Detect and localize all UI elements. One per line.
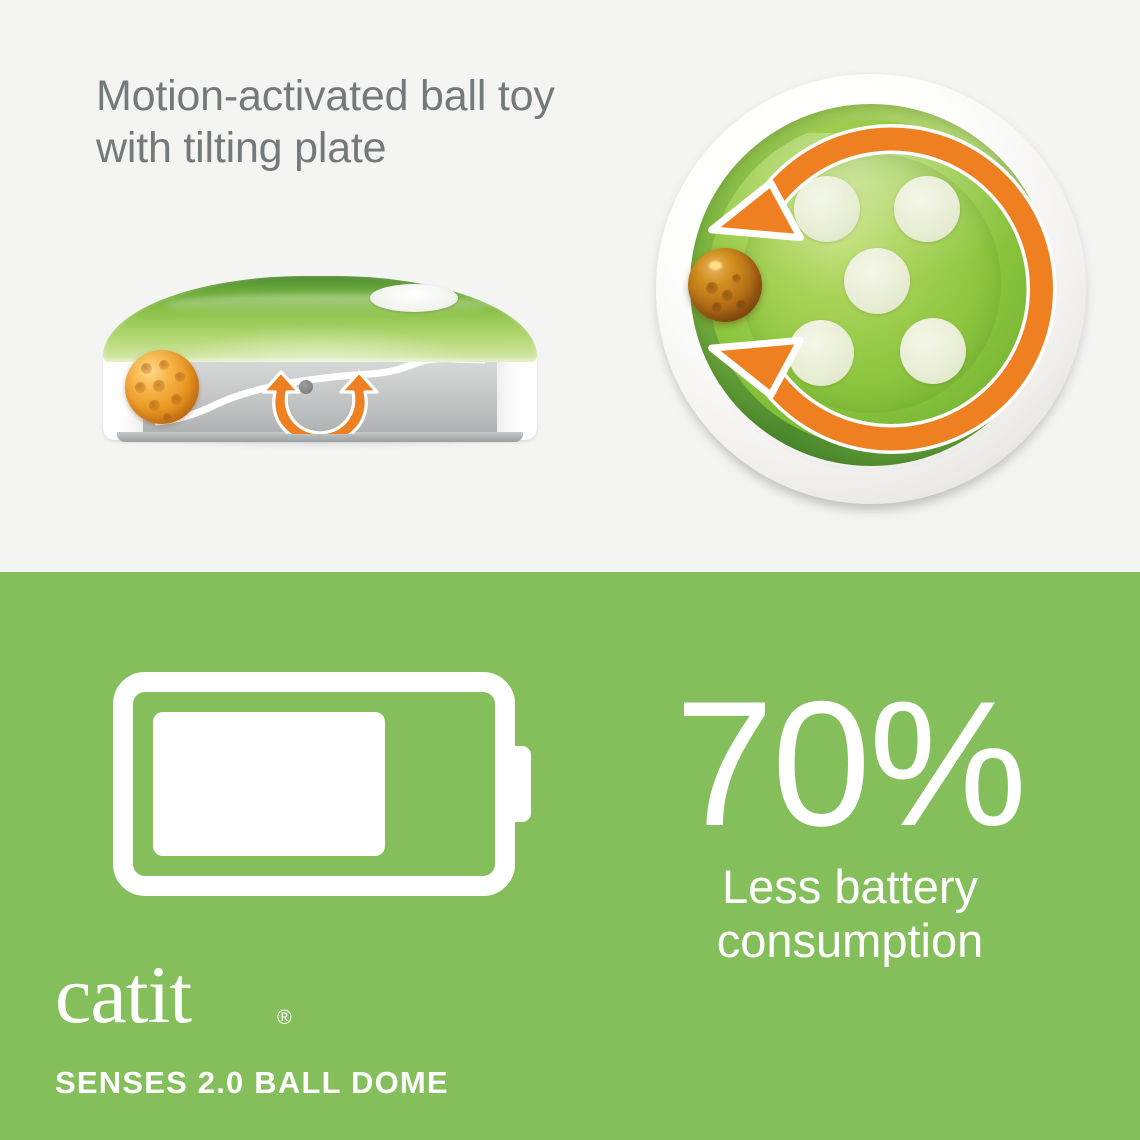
side-view-product-photo [95, 262, 545, 462]
battery-terminal [505, 746, 531, 822]
side-view-dome [103, 276, 537, 362]
top-view-product-photo [638, 58, 1104, 524]
battery-fill-level [153, 712, 385, 856]
headline-line-1: Motion-activated ball toy [96, 72, 555, 120]
registered-trademark-symbol: ® [277, 1007, 292, 1029]
product-line-name: SENSES 2.0 BALL DOME [55, 1065, 475, 1101]
brand-block: catit ® SENSES 2.0 BALL DOME [55, 960, 475, 1101]
headline-line-2: with tilting plate [96, 124, 386, 172]
catit-logo: catit ® [55, 960, 325, 1038]
tilt-motion-arrow-icon [255, 370, 385, 434]
stat-caption-line-1: Less battery [722, 860, 978, 913]
page-title: Motion-activated ball toy with tilting p… [96, 70, 656, 175]
rotation-arrow-icon [660, 78, 1082, 500]
stat-caption-line-2: consumption [717, 914, 984, 967]
top-panel: Motion-activated ball toy with tilting p… [0, 0, 1140, 572]
stat-caption: Less battery consumption [600, 860, 1100, 969]
battery-icon [113, 664, 533, 904]
bottom-panel: 70% Less battery consumption catit ® SEN… [0, 572, 1140, 1140]
catit-wordmark: catit [55, 960, 192, 1038]
stat-block: 70% Less battery consumption [600, 682, 1100, 969]
orange-ball [125, 350, 199, 424]
stat-percent: 70% [600, 682, 1100, 846]
infographic-page: Motion-activated ball toy with tilting p… [0, 0, 1140, 1140]
dome-top-opening [370, 284, 458, 312]
